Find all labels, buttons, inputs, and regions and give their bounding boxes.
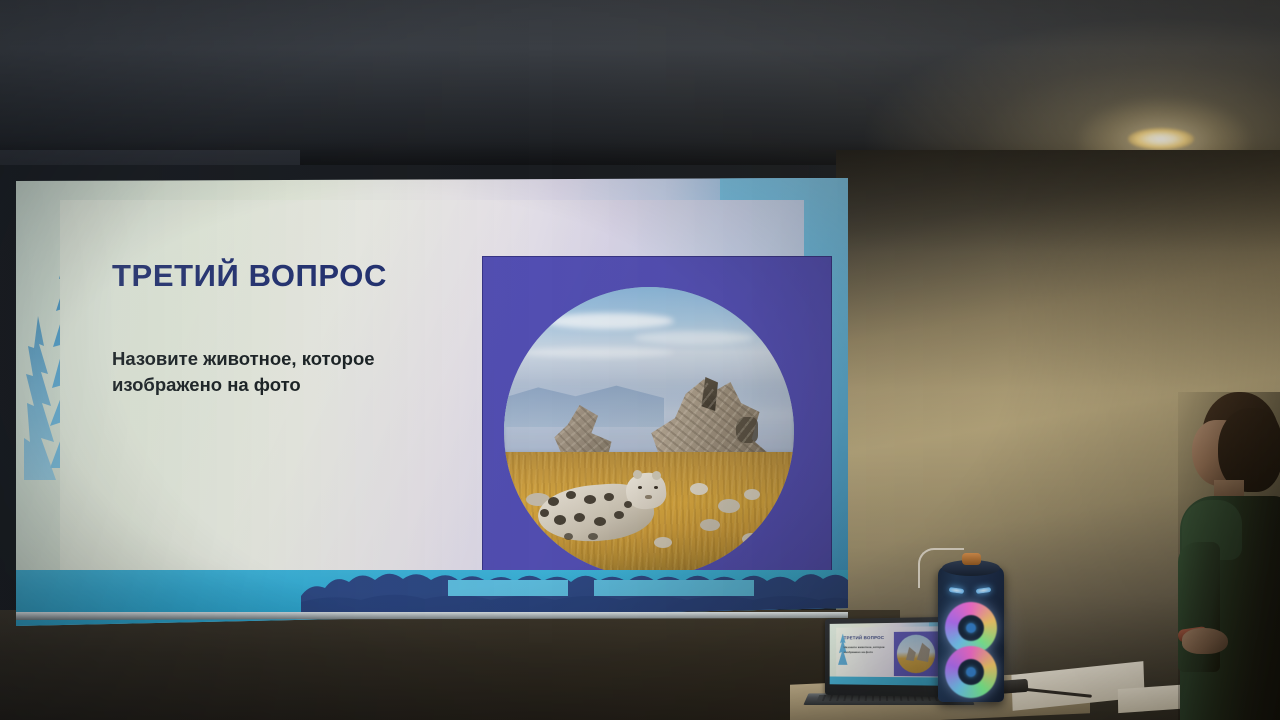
speaker-rgb-driver-ring	[945, 646, 997, 698]
speaker-led-indicator-icon	[949, 587, 965, 594]
projection-screen: ТРЕТИЙ ВОПРОС Назовите животное, которое…	[16, 178, 848, 626]
speaker-driver-hub	[966, 623, 976, 633]
screen-vignette	[16, 178, 848, 626]
ceiling-spotlight-icon	[1128, 128, 1194, 150]
speaker-knob[interactable]	[962, 553, 981, 565]
presentation-room-photo: ТРЕТИЙ ВОПРОС Назовите животное, которое…	[0, 0, 1280, 720]
presenter-shading	[1178, 392, 1280, 720]
projected-slide: ТРЕТИЙ ВОПРОС Назовите животное, которое…	[16, 178, 848, 626]
bluetooth-speaker[interactable]	[938, 566, 1004, 702]
presenter	[1178, 392, 1280, 720]
lower-wall	[0, 610, 900, 720]
speaker-led-indicator-icon	[976, 587, 992, 594]
speaker-driver-hub	[966, 667, 976, 677]
